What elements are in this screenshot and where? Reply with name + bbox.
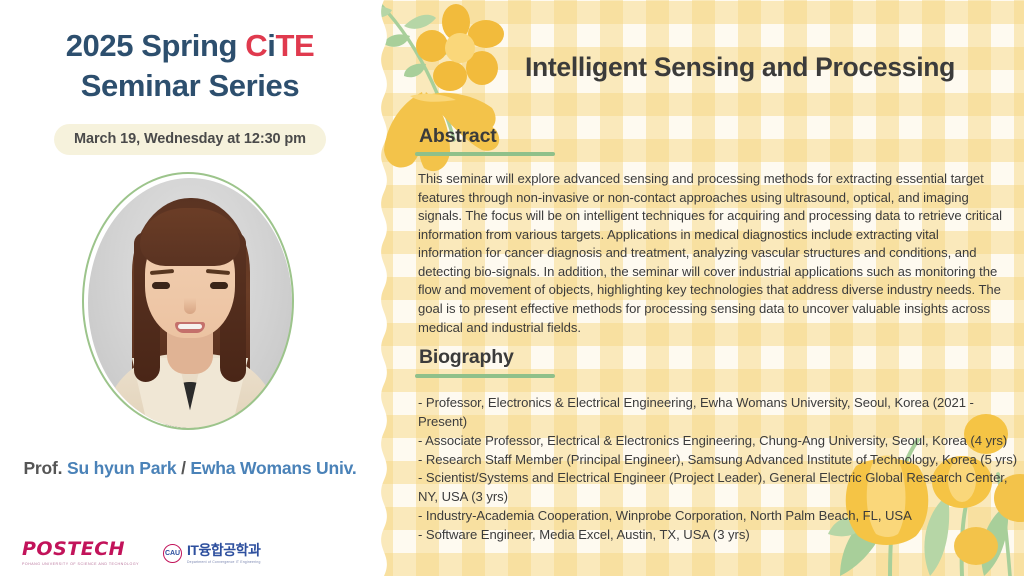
it-convergence-logo: CAU IT융합공학과 Department of Convergence IT… [163, 543, 261, 564]
cite-letter-c: C [245, 28, 267, 63]
series-title-prefix: 2025 Spring [66, 28, 246, 63]
postech-subtitle: POHANG UNIVERSITY OF SCIENCE AND TECHNOL… [22, 562, 139, 566]
series-title-line-2: Seminar Series [0, 66, 380, 106]
postech-wordmark: POSTECH [22, 540, 125, 559]
emblem-label: CAU [165, 550, 180, 557]
abstract-heading-rule [415, 152, 555, 156]
speaker-separator: / [176, 458, 190, 478]
list-item: - Software Engineer, Media Excel, Austin… [418, 526, 1018, 545]
speaker-credit: Prof. Su hyun Park / Ewha Womans Univ. [0, 458, 380, 479]
abstract-body-text: This seminar will explore advanced sensi… [418, 170, 1006, 337]
series-title-line-1: 2025 Spring CiTE [0, 26, 380, 66]
cite-letters-te: TE [275, 28, 314, 63]
seminar-poster: Intelligent Sensing and Processing Abstr… [0, 0, 1024, 576]
left-info-panel: 2025 Spring CiTE Seminar Series March 19… [0, 0, 380, 576]
speaker-name: Su hyun Park [67, 458, 176, 478]
list-item: - Associate Professor, Electrical & Elec… [418, 432, 1018, 451]
it-logo-english: Department of Convergence IT Engineering [187, 560, 261, 564]
abstract-heading: Abstract [419, 125, 497, 148]
university-emblem-icon: CAU [163, 544, 182, 563]
list-item: - Scientist/Systems and Electrical Engin… [418, 469, 1018, 488]
portrait-ring-border [82, 172, 294, 430]
footer-logos: POSTECH POHANG UNIVERSITY OF SCIENCE AND… [22, 540, 261, 566]
speaker-portrait [82, 172, 298, 434]
list-item: NY, USA (3 yrs) [418, 488, 1018, 507]
it-logo-text: IT융합공학과 Department of Convergence IT Eng… [187, 543, 261, 564]
list-item: - Professor, Electronics & Electrical En… [418, 394, 1018, 432]
biography-heading-rule [415, 374, 555, 378]
biography-heading: Biography [419, 346, 514, 369]
postech-logo: POSTECH POHANG UNIVERSITY OF SCIENCE AND… [22, 540, 139, 566]
right-content-panel: Intelligent Sensing and Processing Abstr… [370, 0, 1024, 576]
list-item: - Industry-Academia Cooperation, Winprob… [418, 507, 1018, 526]
biography-list: - Professor, Electronics & Electrical En… [418, 394, 1018, 545]
seminar-title: Intelligent Sensing and Processing [470, 52, 1010, 83]
speaker-affiliation: Ewha Womans Univ. [190, 458, 356, 478]
speaker-title-prefix: Prof. [23, 458, 67, 478]
series-title-block: 2025 Spring CiTE Seminar Series [0, 26, 380, 105]
right-panel-content: Intelligent Sensing and Processing Abstr… [370, 0, 1024, 576]
it-logo-korean: IT융합공학과 [187, 543, 261, 557]
date-badge: March 19, Wednesday at 12:30 pm [54, 124, 326, 155]
list-item: - Research Staff Member (Principal Engin… [418, 451, 1018, 470]
